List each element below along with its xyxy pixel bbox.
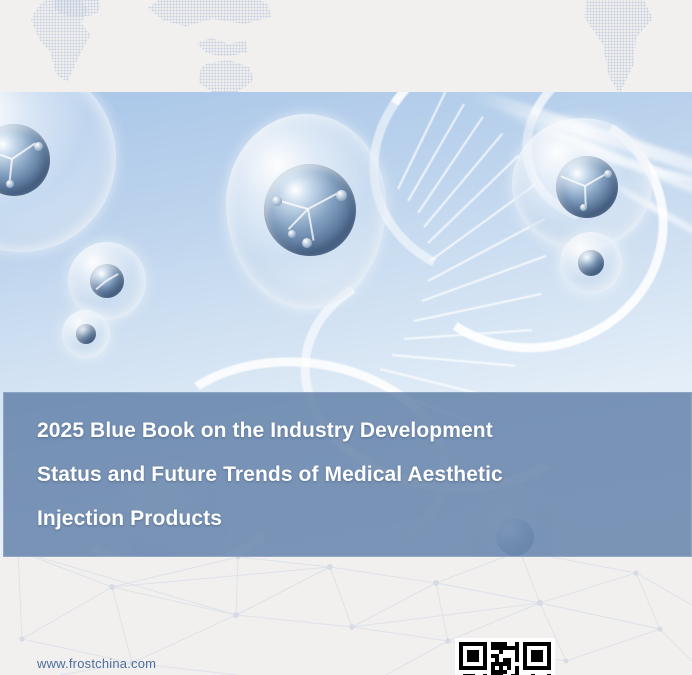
molecule-bond	[106, 273, 119, 282]
molecule-bubble	[226, 114, 386, 309]
molecule-core	[90, 264, 124, 298]
header-band	[0, 0, 692, 92]
world-map-south-america-icon	[580, 0, 656, 92]
molecule-bond	[0, 148, 12, 160]
molecule-core	[578, 250, 604, 276]
molecule-atom	[580, 204, 587, 211]
molecule-core	[556, 156, 618, 218]
title-line-1: 2025 Blue Book on the Industry Developme…	[37, 409, 657, 453]
molecule-atom	[34, 142, 43, 151]
molecule-bubble	[0, 92, 116, 252]
world-map-australia-icon	[196, 60, 254, 92]
molecule-atom	[604, 170, 612, 178]
molecule-bond	[95, 280, 106, 290]
molecule-bond	[11, 143, 35, 160]
molecule-bond	[288, 208, 309, 230]
molecule-bond	[308, 192, 339, 210]
molecule-bubble-small	[68, 242, 146, 320]
qr-code-grid	[459, 642, 551, 675]
molecule-bond	[561, 175, 586, 187]
molecule-core	[0, 124, 50, 196]
molecule-core	[76, 324, 96, 344]
molecule-bubble	[512, 118, 652, 250]
page-title: 2025 Blue Book on the Industry Developme…	[37, 409, 657, 541]
molecule-atom	[272, 196, 282, 206]
molecule-atom	[288, 230, 296, 238]
title-line-3: Injection Products	[37, 497, 657, 541]
world-map-europe-icon	[54, 0, 100, 16]
molecule-atom	[302, 238, 312, 248]
molecule-bubble-small	[62, 310, 110, 358]
molecule-bubble-small	[560, 232, 622, 294]
report-cover-page: 2025 Blue Book on the Industry Developme…	[0, 0, 692, 675]
qr-code[interactable]	[455, 638, 555, 675]
world-map-southeast-asia-icon	[196, 38, 248, 64]
title-band: 2025 Blue Book on the Industry Developme…	[3, 392, 692, 557]
title-line-2: Status and Future Trends of Medical Aest…	[37, 453, 657, 497]
molecule-core	[264, 164, 356, 256]
molecule-atom	[336, 190, 347, 201]
molecule-atom	[6, 180, 14, 188]
molecule-bond	[585, 173, 607, 187]
molecule-bond	[307, 209, 315, 241]
website-url[interactable]: www.frostchina.com	[37, 656, 156, 671]
